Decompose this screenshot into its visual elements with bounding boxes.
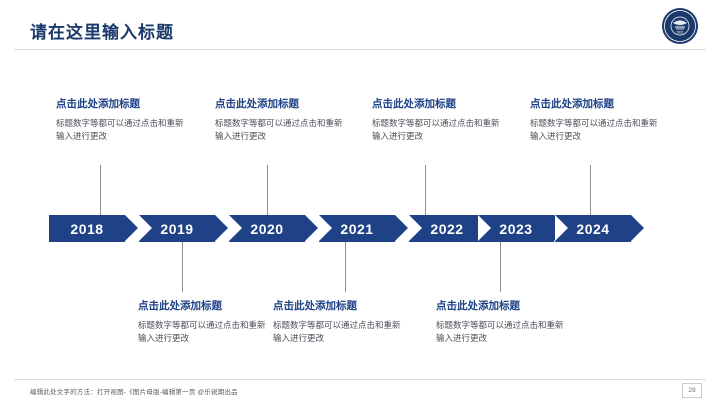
slide-footer: 编辑此处文字的方法：打开视图-《图片母版-编辑第一页 @乐锐期出品 29 xyxy=(0,379,720,405)
connector-line-top-2 xyxy=(267,165,268,215)
timeline-year-2022[interactable]: 2022 xyxy=(409,215,485,242)
block-description: 标题数字等都可以通过点击和重新输入进行更改 xyxy=(138,319,266,345)
timeline-year-2023[interactable]: 2023 xyxy=(478,215,554,242)
timeline-year-2018[interactable]: 2018 xyxy=(49,215,125,242)
timeline-year-2024[interactable]: 2024 xyxy=(555,215,631,242)
block-description: 标题数字等都可以通过点击和重新输入进行更改 xyxy=(273,319,401,345)
page-number: 29 xyxy=(682,383,702,398)
timeline-year-label: 2022 xyxy=(430,221,463,237)
connector-line-top-4 xyxy=(590,165,591,215)
connector-line-top-3 xyxy=(425,165,426,215)
block-title: 点击此处添加标题 xyxy=(273,300,401,314)
connector-line-bottom-2 xyxy=(345,242,346,292)
block-title: 点击此处添加标题 xyxy=(138,300,266,314)
block-description: 标题数字等都可以通过点击和重新输入进行更改 xyxy=(372,117,500,143)
timeline-block-bottom-2[interactable]: 点击此处添加标题 标题数字等都可以通过点击和重新输入进行更改 xyxy=(273,300,401,345)
block-description: 标题数字等都可以通过点击和重新输入进行更改 xyxy=(436,319,564,345)
footer-divider xyxy=(14,379,706,380)
timeline: 2018 2019 2020 2021 2022 2023 2024 xyxy=(0,0,720,405)
timeline-year-2019[interactable]: 2019 xyxy=(139,215,215,242)
block-title: 点击此处添加标题 xyxy=(372,98,500,112)
connector-line-bottom-3 xyxy=(500,242,501,292)
block-title: 点击此处添加标题 xyxy=(530,98,658,112)
slide: 请在这里输入标题 1921 2018 2019 2020 xyxy=(0,0,720,405)
connector-line-top-1 xyxy=(100,165,101,215)
timeline-year-label: 2020 xyxy=(250,221,283,237)
block-description: 标题数字等都可以通过点击和重新输入进行更改 xyxy=(215,117,343,143)
block-title: 点击此处添加标题 xyxy=(215,98,343,112)
timeline-year-label: 2023 xyxy=(499,221,532,237)
block-description: 标题数字等都可以通过点击和重新输入进行更改 xyxy=(56,117,184,143)
block-title: 点击此处添加标题 xyxy=(56,98,184,112)
block-title: 点击此处添加标题 xyxy=(436,300,564,314)
timeline-year-2021[interactable]: 2021 xyxy=(319,215,395,242)
timeline-year-label: 2024 xyxy=(576,221,609,237)
timeline-year-2020[interactable]: 2020 xyxy=(229,215,305,242)
footer-note: 编辑此处文字的方法：打开视图-《图片母版-编辑第一页 @乐锐期出品 xyxy=(30,386,238,396)
timeline-block-top-1[interactable]: 点击此处添加标题 标题数字等都可以通过点击和重新输入进行更改 xyxy=(56,98,184,143)
block-description: 标题数字等都可以通过点击和重新输入进行更改 xyxy=(530,117,658,143)
connector-line-bottom-1 xyxy=(182,242,183,292)
timeline-block-top-3[interactable]: 点击此处添加标题 标题数字等都可以通过点击和重新输入进行更改 xyxy=(372,98,500,143)
timeline-year-label: 2019 xyxy=(160,221,193,237)
timeline-year-label: 2021 xyxy=(340,221,373,237)
timeline-block-bottom-1[interactable]: 点击此处添加标题 标题数字等都可以通过点击和重新输入进行更改 xyxy=(138,300,266,345)
timeline-block-bottom-3[interactable]: 点击此处添加标题 标题数字等都可以通过点击和重新输入进行更改 xyxy=(436,300,564,345)
timeline-year-label: 2018 xyxy=(70,221,103,237)
timeline-block-top-2[interactable]: 点击此处添加标题 标题数字等都可以通过点击和重新输入进行更改 xyxy=(215,98,343,143)
timeline-block-top-4[interactable]: 点击此处添加标题 标题数字等都可以通过点击和重新输入进行更改 xyxy=(530,98,658,143)
